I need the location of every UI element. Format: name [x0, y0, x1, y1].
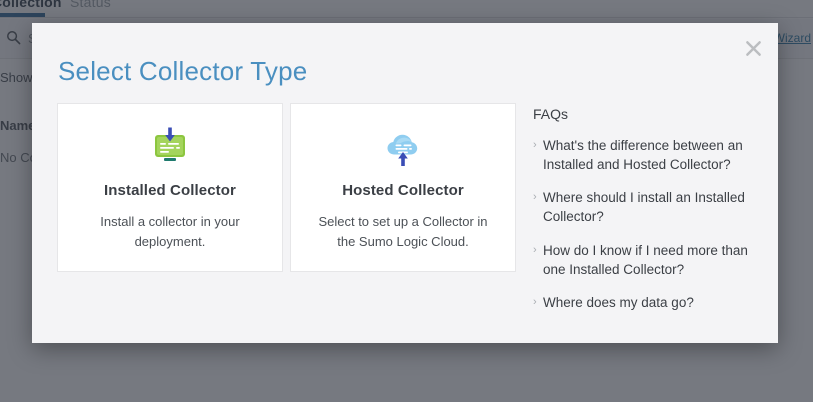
dialog-title: Select Collector Type [58, 56, 307, 87]
collector-type-card-list: Installed Collector Install a collector … [57, 103, 516, 272]
cloud-upload-icon [382, 126, 424, 168]
faq-item-label: Where should I install an Installed Coll… [543, 188, 753, 226]
chevron-right-icon: › [533, 190, 543, 205]
monitor-download-icon [149, 126, 191, 168]
faq-item-label: How do I know if I need more than one In… [543, 241, 753, 279]
faq-item-label: Where does my data go? [543, 293, 694, 312]
faq-item[interactable]: › How do I know if I need more than one … [533, 241, 753, 279]
select-collector-type-dialog: Select Collector Type Installed Colle [32, 23, 778, 343]
faq-item[interactable]: › Where should I install an Installed Co… [533, 188, 753, 226]
faq-item[interactable]: › What's the difference between an Insta… [533, 136, 753, 174]
faq-heading: FAQs [533, 106, 753, 122]
hosted-collector-description: Select to set up a Collector in the Sumo… [310, 212, 496, 251]
close-icon[interactable] [741, 36, 765, 60]
chevron-right-icon: › [533, 295, 543, 310]
installed-collector-description: Install a collector in your deployment. [77, 212, 263, 251]
installed-collector-title: Installed Collector [104, 182, 236, 199]
chevron-right-icon: › [533, 138, 543, 153]
faq-panel: FAQs › What's the difference between an … [533, 106, 753, 326]
faq-item-label: What's the difference between an Install… [543, 136, 753, 174]
installed-collector-card[interactable]: Installed Collector Install a collector … [57, 103, 283, 272]
hosted-collector-card[interactable]: Hosted Collector Select to set up a Coll… [290, 103, 516, 272]
hosted-collector-title: Hosted Collector [342, 182, 464, 199]
chevron-right-icon: › [533, 243, 543, 258]
faq-item[interactable]: › Where does my data go? [533, 293, 753, 312]
